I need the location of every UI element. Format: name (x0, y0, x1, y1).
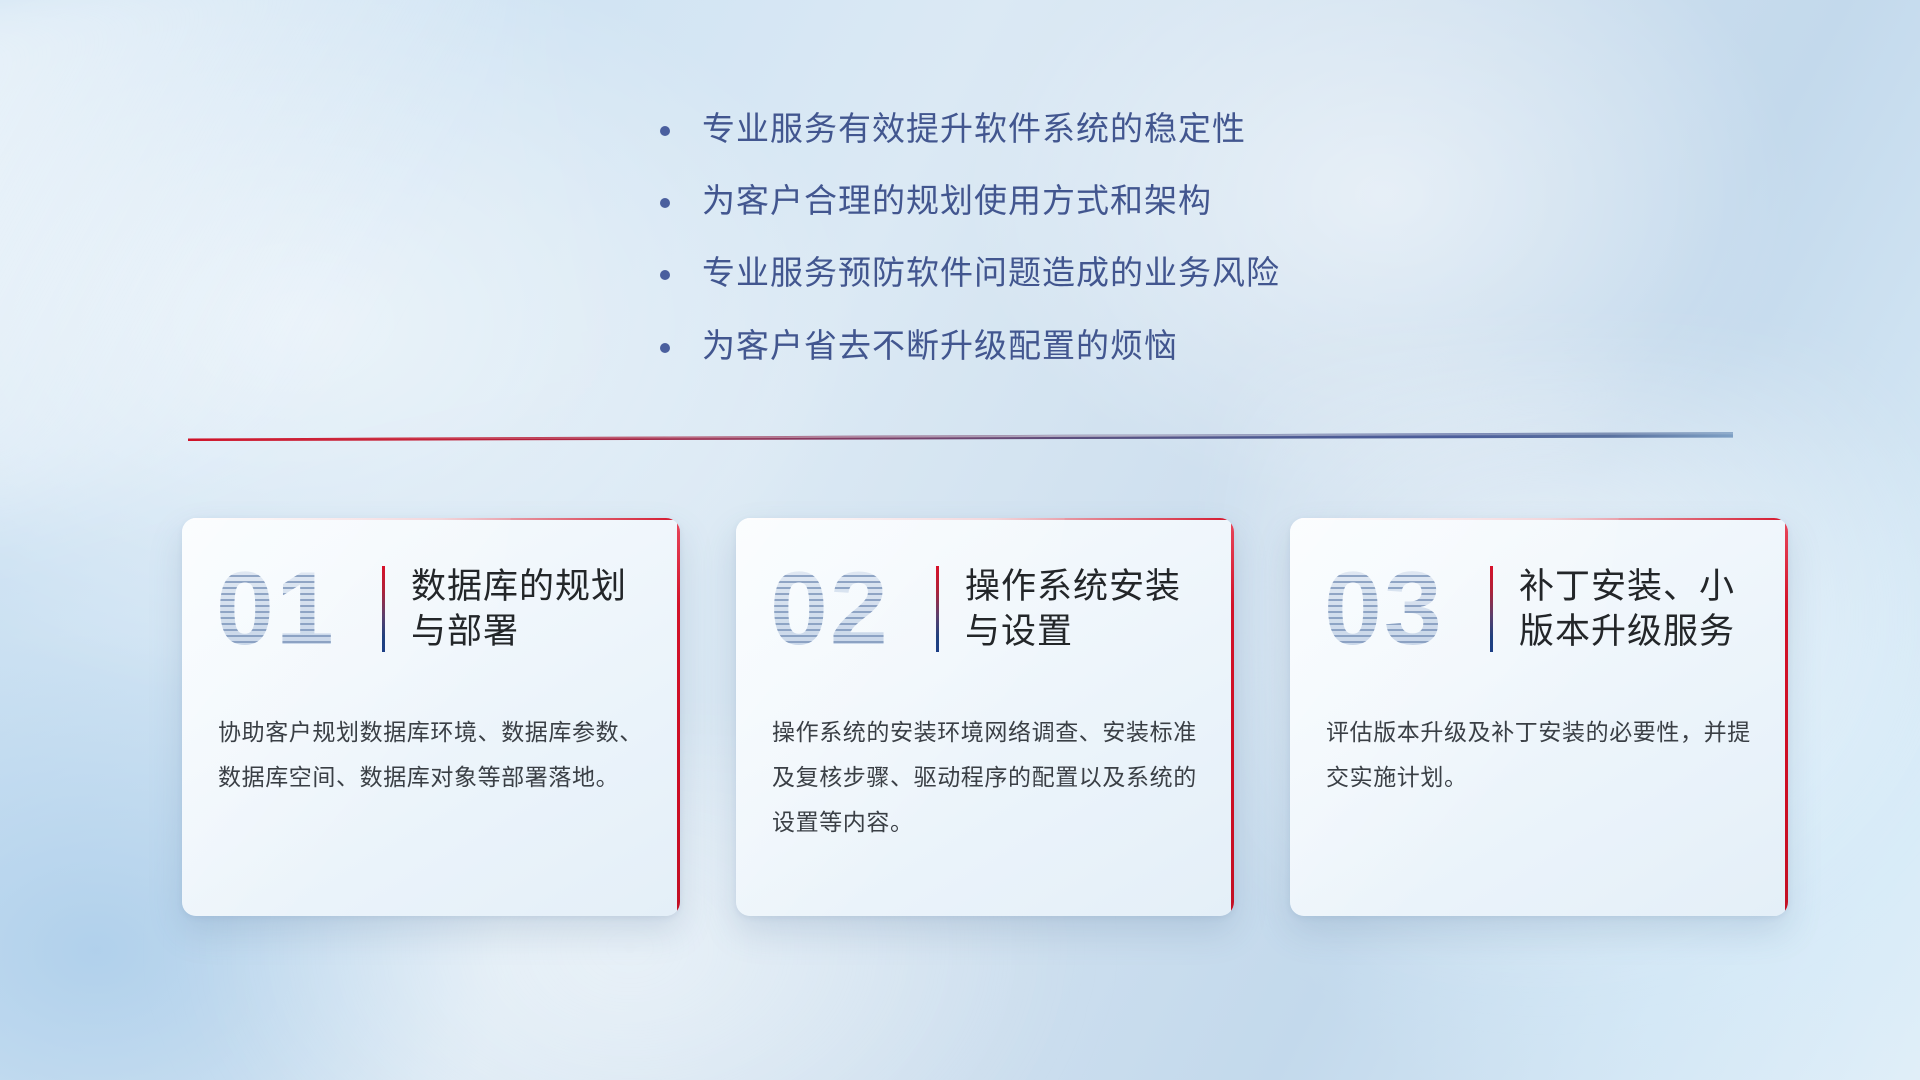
background-glow-top-left (0, 0, 607, 525)
service-card-01[interactable]: 01 数据库的规划与部署 协助客户规划数据库环境、数据库参数、数据库空间、数据库… (182, 518, 680, 916)
service-card-03[interactable]: 03 补丁安装、小版本升级服务 评估版本升级及补丁安装的必要性，并提交实施计划。 (1290, 518, 1788, 916)
slide-root: 专业服务有效提升软件系统的稳定性 为客户合理的规划使用方式和架构 专业服务预防软… (0, 0, 1920, 1080)
service-card-list: 01 数据库的规划与部署 协助客户规划数据库环境、数据库参数、数据库空间、数据库… (182, 518, 1788, 916)
list-item: 为客户合理的规划使用方式和架构 (660, 180, 1420, 222)
list-item: 为客户省去不断升级配置的烦恼 (660, 325, 1420, 367)
bullet-dot-icon (660, 343, 670, 353)
card-body-text: 评估版本升级及补丁安装的必要性，并提交实施计划。 (1290, 668, 1788, 800)
bullet-dot-icon (660, 126, 670, 136)
benefits-bullet-list: 专业服务有效提升软件系统的稳定性 为客户合理的规划使用方式和架构 专业服务预防软… (660, 108, 1420, 397)
card-title: 数据库的规划与部署 (411, 564, 650, 655)
card-number: 01 (216, 557, 376, 661)
card-divider-rule (936, 566, 939, 652)
card-title: 补丁安装、小版本升级服务 (1519, 564, 1758, 655)
card-body-text: 协助客户规划数据库环境、数据库参数、数据库空间、数据库对象等部署落地。 (182, 668, 680, 800)
card-number: 03 (1324, 557, 1484, 661)
bullet-text: 为客户省去不断升级配置的烦恼 (702, 325, 1178, 367)
card-title: 操作系统安装与设置 (965, 564, 1204, 655)
list-item: 专业服务预防软件问题造成的业务风险 (660, 252, 1420, 294)
bullet-dot-icon (660, 198, 670, 208)
list-item: 专业服务有效提升软件系统的稳定性 (660, 108, 1420, 150)
card-divider-rule (1490, 566, 1493, 652)
bullet-text: 专业服务有效提升软件系统的稳定性 (702, 108, 1246, 150)
card-number: 02 (770, 557, 930, 661)
bullet-text: 为客户合理的规划使用方式和架构 (702, 180, 1212, 222)
card-divider-rule (382, 566, 385, 652)
service-card-02[interactable]: 02 操作系统安装与设置 操作系统的安装环境网络调查、安装标准及复核步骤、驱动程… (736, 518, 1234, 916)
card-header: 01 数据库的规划与部署 (182, 518, 680, 668)
card-body-text: 操作系统的安装环境网络调查、安装标准及复核步骤、驱动程序的配置以及系统的设置等内… (736, 668, 1234, 845)
section-divider (188, 432, 1733, 441)
bullet-dot-icon (660, 270, 670, 280)
card-header: 03 补丁安装、小版本升级服务 (1290, 518, 1788, 668)
bullet-text: 专业服务预防软件问题造成的业务风险 (702, 252, 1280, 294)
card-header: 02 操作系统安装与设置 (736, 518, 1234, 668)
